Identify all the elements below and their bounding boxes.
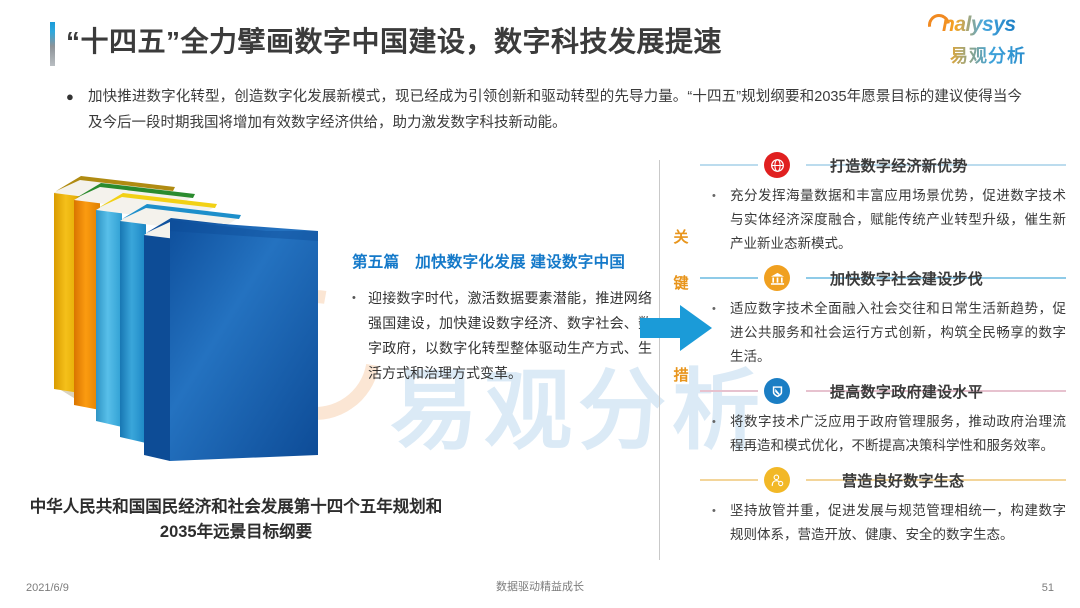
measure-body-1: • 充分发挥海量数据和丰富应用场景优势，促进数字技术与实体经济深度融合，赋能传统… bbox=[700, 184, 1066, 256]
books-svg bbox=[44, 165, 344, 495]
document-excerpt-title: 第五篇 加快数字化发展 建设数字中国 bbox=[352, 250, 652, 272]
slide-root: 易观分析 “十四五”全力擘画数字中国建设，数字科技发展提速 nalysys 易观… bbox=[0, 0, 1080, 608]
rule-left-3 bbox=[700, 390, 758, 392]
measure-title-1: 打造数字经济新优势 bbox=[830, 155, 968, 176]
measure-body-4: • 坚持放管并重，促进发展与规范管理相统一，构建数字规则体系，营造开放、健康、安… bbox=[700, 499, 1066, 547]
rule-left-1 bbox=[700, 164, 758, 166]
globe-badge-glyph bbox=[770, 158, 785, 173]
measure-text-1: 充分发挥海量数据和丰富应用场景优势，促进数字技术与实体经济深度融合，赋能传统产业… bbox=[730, 184, 1066, 256]
books-caption: 中华人民共和国国民经济和社会发展第十四个五年规划和2035年远景目标纲要 bbox=[26, 495, 446, 545]
footer-slogan: 数据驱动精益成长 bbox=[0, 578, 1080, 594]
key-measures-char-3: 措 bbox=[670, 353, 692, 399]
measure-text-2: 适应数字技术全面融入社会交往和日常生活新趋势，促进公共服务和社会运行方式创新，构… bbox=[730, 297, 1066, 369]
person-gear-icon bbox=[764, 467, 790, 493]
document-excerpt-body: • 迎接数字时代，激活数据要素潜能，推进网络强国建设，加快建设数字经济、数字社会… bbox=[352, 286, 652, 386]
rule-left-4 bbox=[700, 479, 758, 481]
measure-header-3: 提高数字政府建设水平 bbox=[700, 376, 1066, 406]
measure-text-4: 坚持放管并重，促进发展与规范管理相统一，构建数字规则体系，营造开放、健康、安全的… bbox=[730, 499, 1066, 547]
measure-header-2: 加快数字社会建设步伐 bbox=[700, 263, 1066, 293]
document-excerpt-text: 迎接数字时代，激活数据要素潜能，推进网络强国建设，加快建设数字经济、数字社会、数… bbox=[368, 286, 652, 386]
stacked-books-image bbox=[44, 165, 344, 495]
lead-paragraph-text: 加快推进数字化转型，创造数字化发展新模式，现已经成为引领创新和驱动转型的先导力量… bbox=[88, 84, 1022, 136]
title-accent-bar bbox=[50, 22, 55, 66]
bank-building-glyph bbox=[770, 271, 785, 286]
bank-building-icon bbox=[764, 265, 790, 291]
footer-page-number: 51 bbox=[1042, 582, 1054, 594]
key-measures-list: 打造数字经济新优势 • 充分发挥海量数据和丰富应用场景优势，促进数字技术与实体经… bbox=[700, 150, 1066, 554]
measure-section-1: 打造数字经济新优势 • 充分发挥海量数据和丰富应用场景优势，促进数字技术与实体经… bbox=[700, 150, 1066, 256]
rule-left-2 bbox=[700, 277, 758, 279]
measure-body-3: • 将数字技术广泛应用于政府管理服务，推动政府治理流程再造和模式优化，不断提高决… bbox=[700, 410, 1066, 458]
logo-chinese-name: 易观分析 bbox=[928, 42, 1048, 68]
logo-top-row: nalysys bbox=[928, 14, 1048, 40]
document-excerpt: 第五篇 加快数字化发展 建设数字中国 • 迎接数字时代，激活数据要素潜能，推进网… bbox=[352, 250, 652, 386]
right-arrow-svg bbox=[640, 305, 712, 351]
person-gear-glyph bbox=[770, 473, 785, 488]
measure-title-4: 营造良好数字生态 bbox=[842, 470, 964, 491]
key-measures-char-0: 关 bbox=[670, 215, 692, 261]
measure-section-3: 提高数字政府建设水平 • 将数字技术广泛应用于政府管理服务，推动政府治理流程再造… bbox=[700, 376, 1066, 458]
measure-bullet-3: • bbox=[712, 410, 730, 458]
measure-text-3: 将数字技术广泛应用于政府管理服务，推动政府治理流程再造和模式优化，不断提高决策科… bbox=[730, 410, 1066, 458]
page-title: “十四五”全力擘画数字中国建设，数字科技发展提速 bbox=[66, 20, 722, 60]
shield-badge-glyph bbox=[770, 384, 785, 399]
measure-header-1: 打造数字经济新优势 bbox=[700, 150, 1066, 180]
vertical-divider bbox=[659, 160, 660, 560]
measure-bullet-1: • bbox=[712, 184, 730, 256]
measure-body-2: • 适应数字技术全面融入社会交往和日常生活新趋势，促进公共服务和社会运行方式创新… bbox=[700, 297, 1066, 369]
measure-section-2: 加快数字社会建设步伐 • 适应数字技术全面融入社会交往和日常生活新趋势，促进公共… bbox=[700, 263, 1066, 369]
measure-header-4: 营造良好数字生态 bbox=[700, 465, 1066, 495]
analysys-logo: nalysys 易观分析 bbox=[928, 14, 1048, 66]
lead-bullet-icon: ● bbox=[66, 84, 88, 136]
measure-bullet-4: • bbox=[712, 499, 730, 547]
measure-bullet-2: • bbox=[712, 297, 730, 369]
shield-badge-icon bbox=[764, 378, 790, 404]
lead-paragraph: ● 加快推进数字化转型，创造数字化发展新模式，现已经成为引领创新和驱动转型的先导… bbox=[66, 84, 1022, 136]
right-arrow-icon bbox=[640, 305, 712, 351]
document-excerpt-bullet-icon: • bbox=[352, 286, 368, 386]
globe-badge-icon bbox=[764, 152, 790, 178]
measure-title-2: 加快数字社会建设步伐 bbox=[830, 268, 983, 289]
key-measures-char-1: 键 bbox=[670, 261, 692, 307]
measure-section-4: 营造良好数字生态 • 坚持放管并重，促进发展与规范管理相统一，构建数字规则体系，… bbox=[700, 465, 1066, 547]
measure-title-3: 提高数字政府建设水平 bbox=[830, 381, 983, 402]
logo-wordmark: nalysys bbox=[942, 13, 1016, 37]
